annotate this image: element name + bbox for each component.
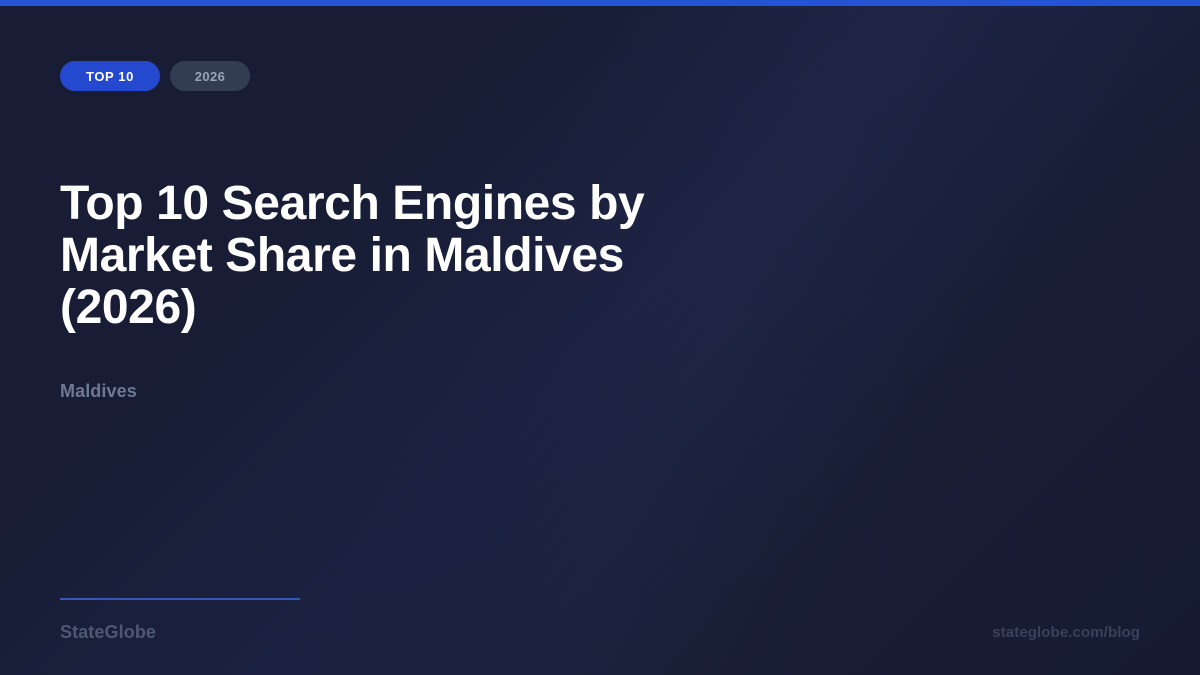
brand-name: StateGlobe: [60, 622, 156, 643]
badge-year[interactable]: 2026: [170, 61, 250, 91]
top-accent-bar: [0, 0, 1200, 6]
background-sheen: [0, 0, 1200, 675]
slide-canvas: TOP 10 2026 Top 10 Search Engines by Mar…: [0, 0, 1200, 675]
badge-row: TOP 10 2026: [60, 61, 250, 91]
site-url: stateglobe.com/blog: [992, 624, 1140, 641]
page-subtitle: Maldives: [60, 381, 137, 402]
footer-divider: [60, 598, 300, 600]
page-title: Top 10 Search Engines by Market Share in…: [60, 178, 680, 334]
badge-top-10[interactable]: TOP 10: [60, 61, 160, 91]
